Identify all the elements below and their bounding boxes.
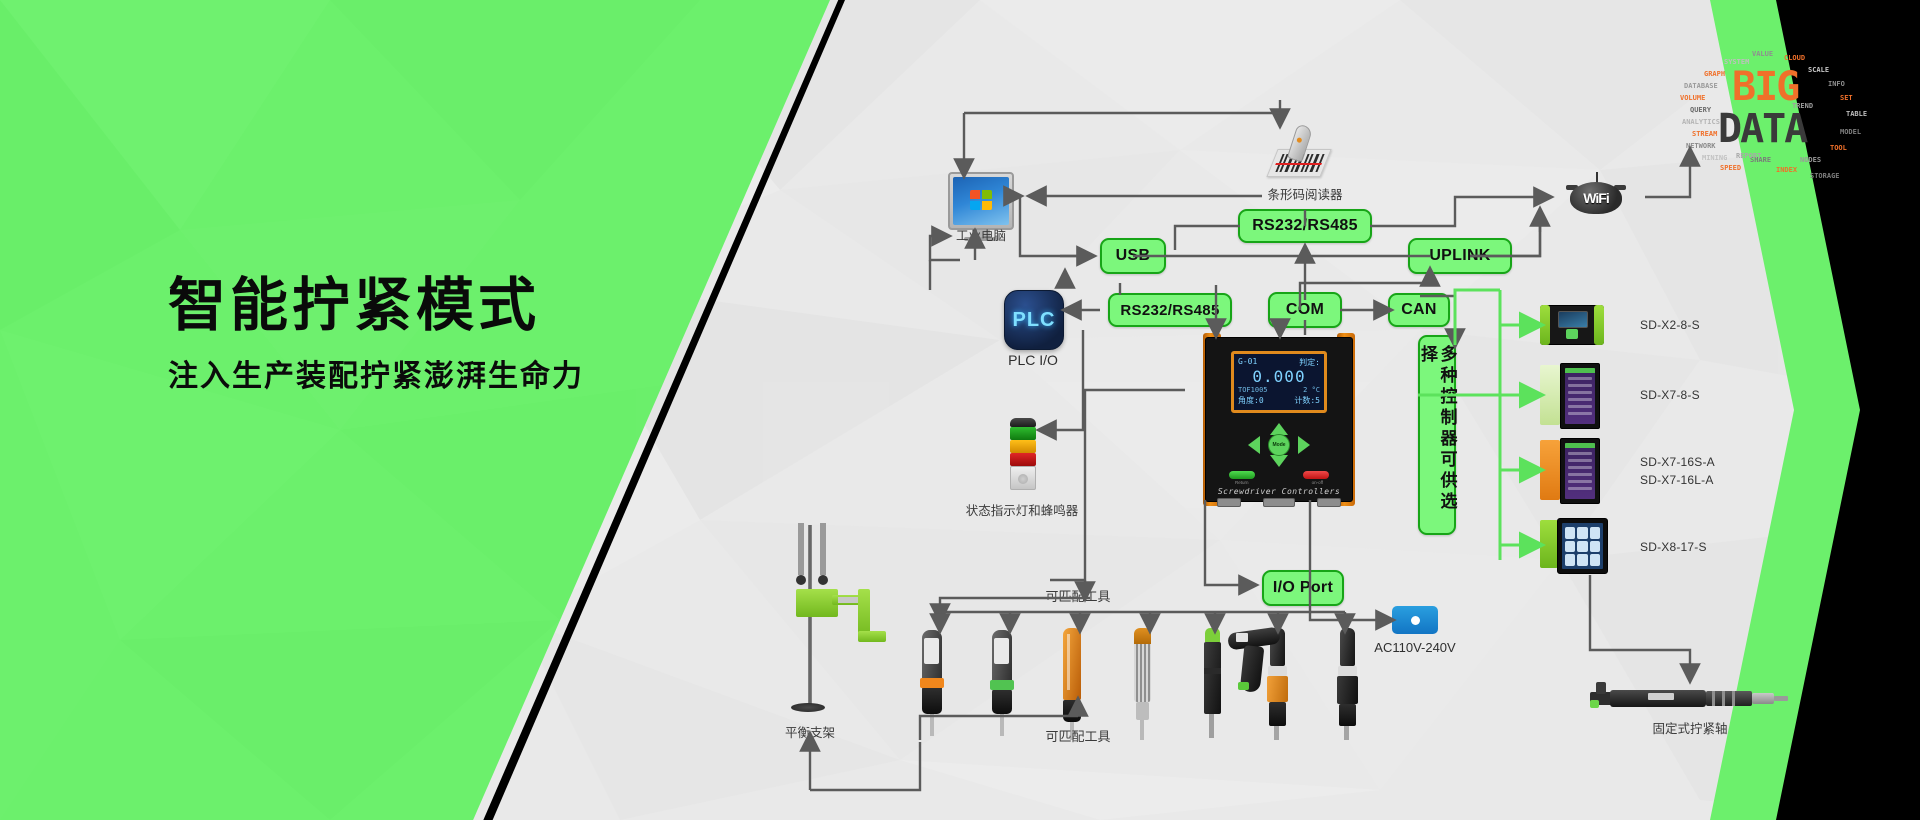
diagram-layer: [0, 0, 1920, 820]
page-subtitle: 注入生产装配拧紧澎湃生命力: [168, 351, 768, 395]
headline-block: 智能拧紧模式 注入生产装配拧紧澎湃生命力: [168, 276, 768, 395]
connector-lines: [0, 0, 1920, 820]
banner-stage: 智能拧紧模式 注入生产装配拧紧澎湃生命力: [0, 0, 1920, 820]
page-title: 智能拧紧模式: [168, 276, 768, 337]
